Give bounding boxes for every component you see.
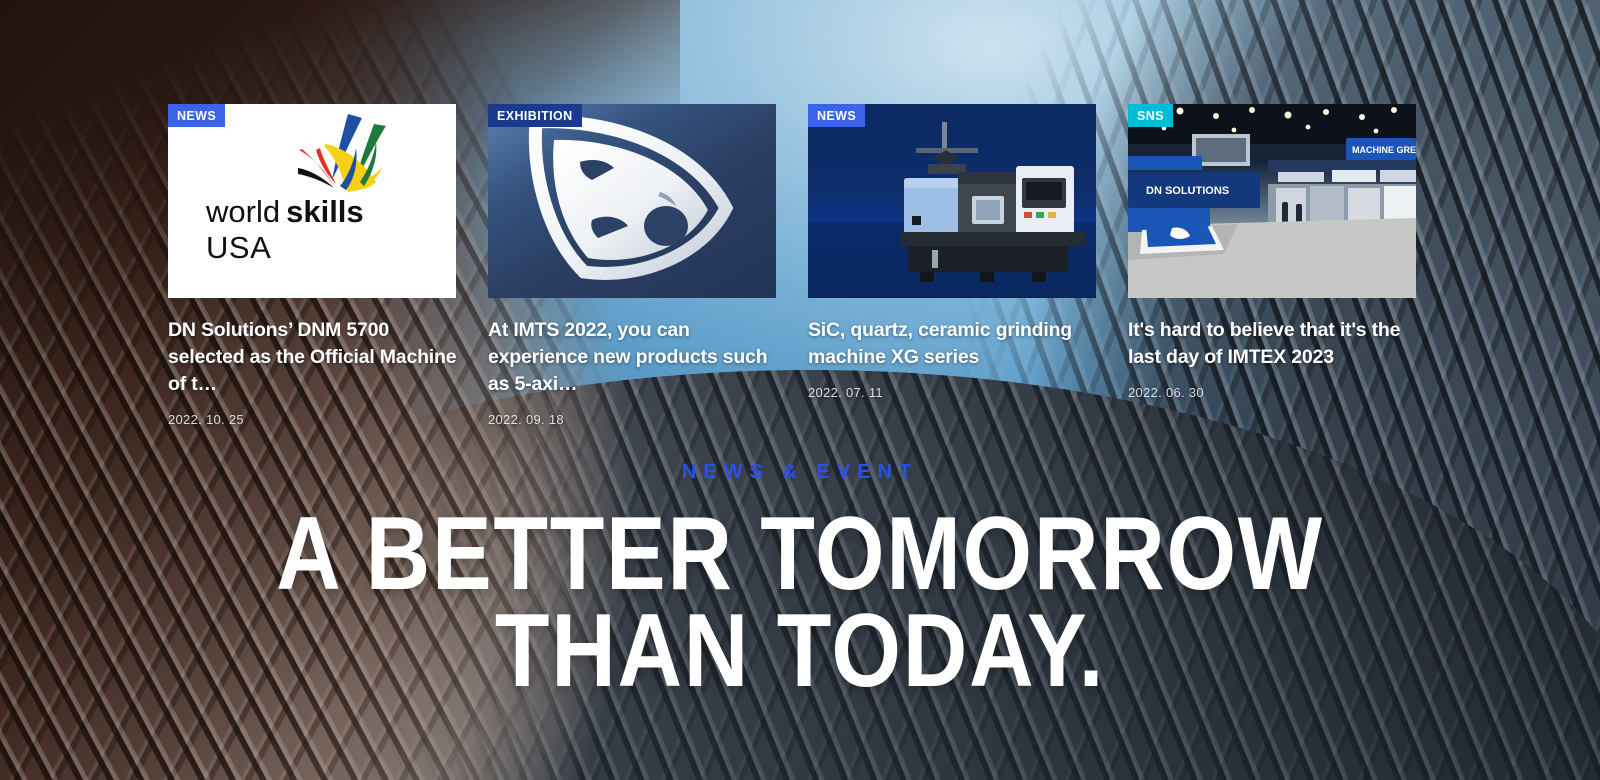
card-thumbnail[interactable]: SNS MACHINE GREATNESS: [1128, 104, 1416, 298]
card-date: 2022. 09. 18: [488, 412, 776, 427]
news-card[interactable]: NEWS: [168, 104, 456, 414]
news-card[interactable]: EXHIBITION At IMTS 2022, you can experie: [488, 104, 776, 414]
svg-text:DN SOLUTIONS: DN SOLUTIONS: [1146, 185, 1229, 197]
news-card[interactable]: NEWS: [808, 104, 1096, 414]
worldskills-usa-text: USA: [206, 230, 271, 266]
hero-stage: NEWS: [0, 0, 1600, 780]
status-badge: NEWS: [168, 104, 225, 127]
grinding-machine-icon: [808, 104, 1096, 298]
card-date: 2022. 06. 30: [1128, 385, 1416, 400]
status-badge: NEWS: [808, 104, 865, 127]
card-title[interactable]: DN Solutions’ DNM 5700 selected as the O…: [168, 317, 460, 398]
card-title[interactable]: SiC, quartz, ceramic grinding machine XG…: [808, 317, 1100, 371]
exhibition-hall-photo: MACHINE GREATNESS DN SOLUTIONS: [1128, 104, 1416, 298]
dn-puma-shield-icon: [488, 104, 776, 298]
card-date: 2022. 10. 25: [168, 412, 456, 427]
svg-text:MACHINE GREATNESS: MACHINE GREATNESS: [1352, 145, 1416, 155]
news-card[interactable]: SNS MACHINE GREATNESS: [1128, 104, 1416, 414]
card-title[interactable]: At IMTS 2022, you can experience new pro…: [488, 317, 780, 398]
page-headline: A BETTER TOMORROW THAN TODAY.: [112, 506, 1488, 699]
card-thumbnail[interactable]: EXHIBITION: [488, 104, 776, 298]
section-eyebrow: NEWS & EVENT: [0, 461, 1600, 484]
card-thumbnail[interactable]: NEWS: [808, 104, 1096, 298]
card-title[interactable]: It's hard to believe that it's the last …: [1128, 317, 1420, 371]
status-badge: EXHIBITION: [488, 104, 582, 127]
card-date: 2022. 07. 11: [808, 385, 1096, 400]
card-thumbnail[interactable]: NEWS: [168, 104, 456, 298]
status-badge: SNS: [1128, 104, 1173, 127]
headline-line-2: THAN TODAY.: [112, 603, 1488, 700]
worldskills-wordmark: worldskills: [206, 196, 364, 228]
news-card-list: NEWS: [168, 104, 1432, 414]
